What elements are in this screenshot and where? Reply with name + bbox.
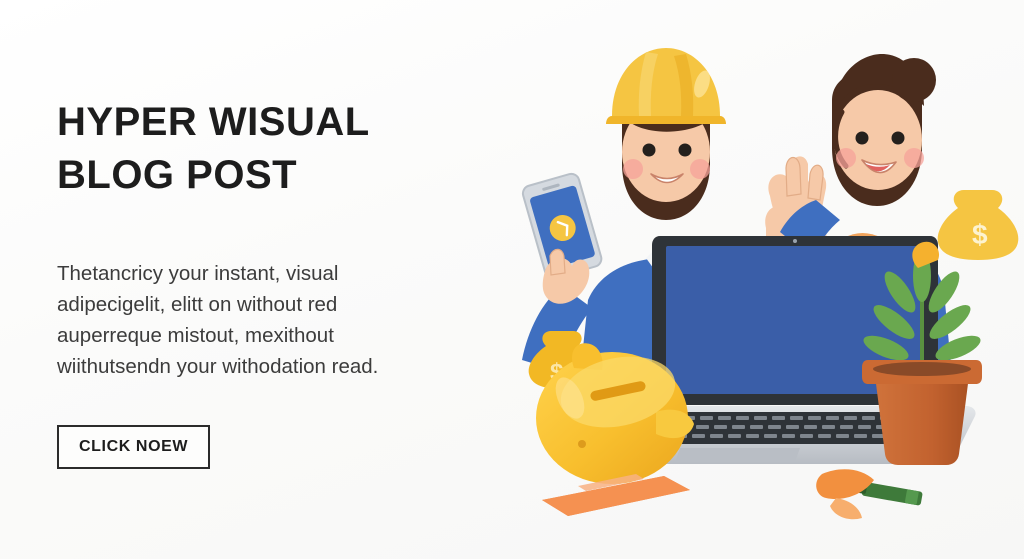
body-paragraph: Thetancricy your instant, visual adipeci… — [57, 258, 429, 383]
trackpad — [675, 448, 800, 462]
cta-button[interactable]: CLICK NOEW — [57, 425, 210, 469]
hair-bun — [892, 58, 936, 102]
svg-text:$: $ — [972, 219, 988, 250]
text-column: HYPER WISUAL BLOG POST — [57, 96, 447, 202]
money-bag-right: $ — [938, 190, 1019, 260]
banner-canvas: HYPER WISUAL BLOG POST Thetancricy your … — [0, 0, 1024, 559]
page-title: HYPER WISUAL BLOG POST — [57, 96, 447, 202]
illustration: $ $ $ — [470, 0, 1024, 559]
orange-notebook — [542, 474, 690, 516]
hard-hat — [606, 48, 726, 124]
